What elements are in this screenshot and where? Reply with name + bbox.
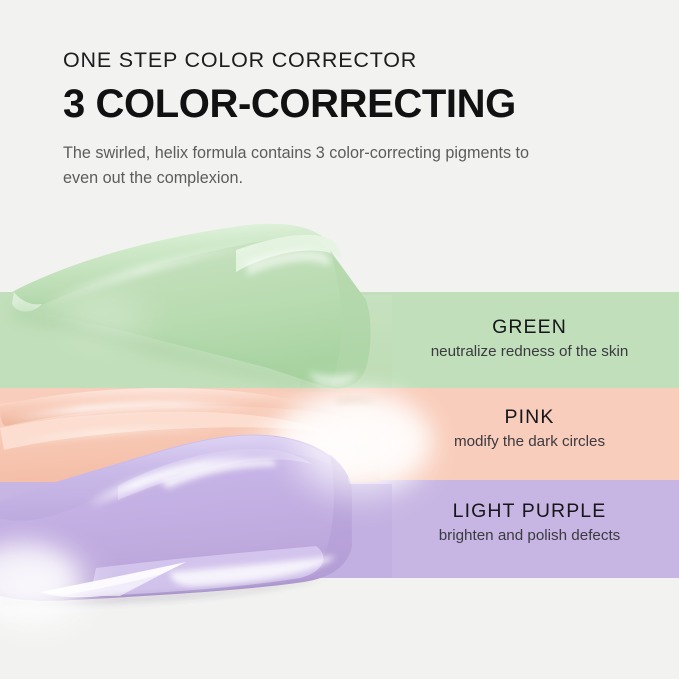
cream-swatch-artwork — [0, 0, 679, 679]
green-cream-swatch — [12, 224, 392, 394]
product-infographic: ONE STEP COLOR CORRECTOR 3 COLOR-CORRECT… — [0, 0, 679, 679]
